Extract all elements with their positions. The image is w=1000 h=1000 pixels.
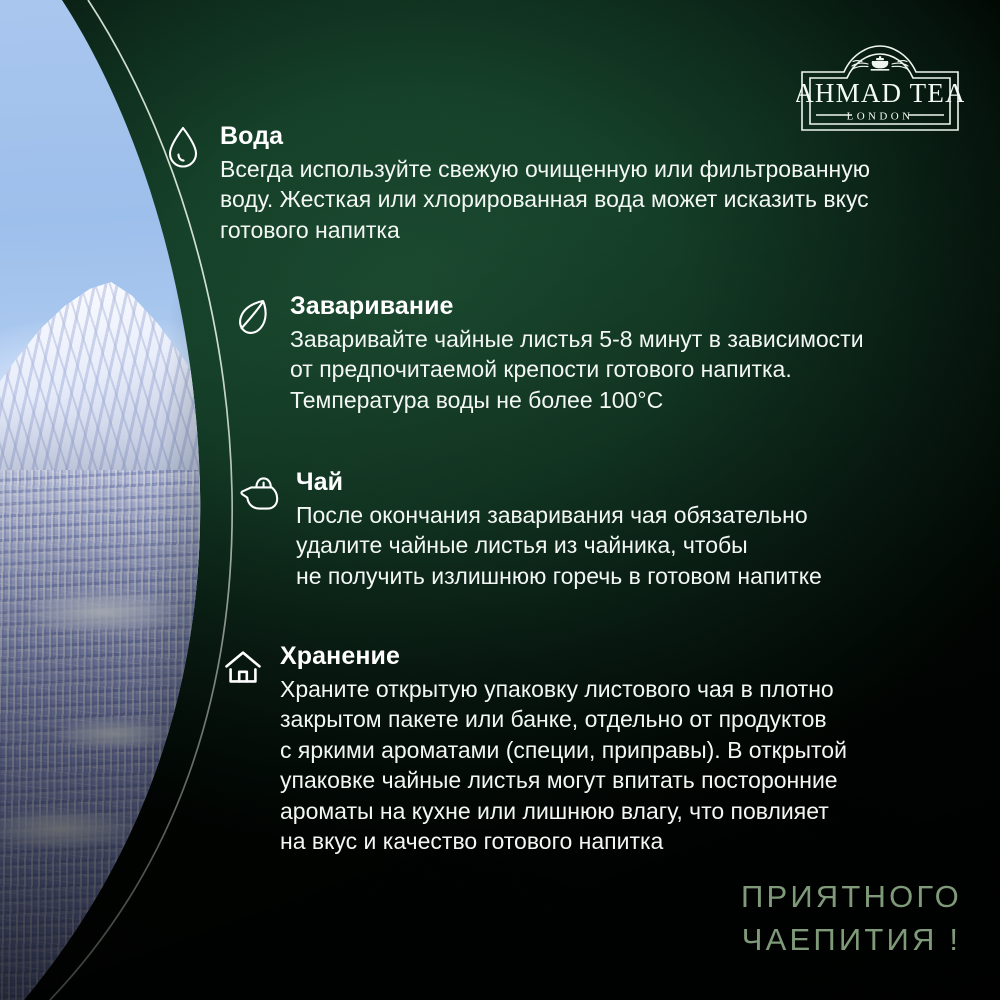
footer-message: ПРИЯТНОГО ЧАЕПИТИЯ ! [741, 876, 962, 962]
section-storage-body: Храните открытую упаковку листового чая … [280, 674, 962, 857]
section-storage-title: Хранение [280, 642, 962, 672]
section-tea-texts: Чай После окончания заваривания чая обяз… [296, 468, 958, 591]
section-brewing-body: Заваривайте чайные листья 5-8 минут в за… [290, 324, 972, 416]
house-icon [222, 644, 264, 690]
section-brewing-texts: Заваривание Заваривайте чайные листья 5-… [290, 292, 972, 415]
water-drop-icon [162, 124, 204, 170]
leaf-icon [232, 294, 274, 340]
section-tea-title: Чай [296, 468, 958, 498]
teapot-icon [238, 470, 280, 516]
section-storage-texts: Хранение Храните открытую упаковку листо… [280, 642, 962, 857]
section-tea-body: После окончания заваривания чая обязател… [296, 500, 958, 592]
instruction-sections: Вода Всегда используйте свежую очищенную… [0, 0, 1000, 1000]
section-brewing-title: Заваривание [290, 292, 972, 322]
section-water-title: Вода [220, 122, 972, 152]
tea-brewing-instructions-poster: AHMAD TEA LONDON Вода Всегда используйте… [0, 0, 1000, 1000]
section-brewing: Заваривание Заваривайте чайные листья 5-… [232, 292, 972, 415]
section-water: Вода Всегда используйте свежую очищенную… [162, 122, 972, 245]
section-tea: Чай После окончания заваривания чая обяз… [238, 468, 958, 591]
section-water-body: Всегда используйте свежую очищенную или … [220, 154, 972, 246]
section-storage: Хранение Храните открытую упаковку листо… [222, 642, 962, 857]
section-water-texts: Вода Всегда используйте свежую очищенную… [220, 122, 972, 245]
